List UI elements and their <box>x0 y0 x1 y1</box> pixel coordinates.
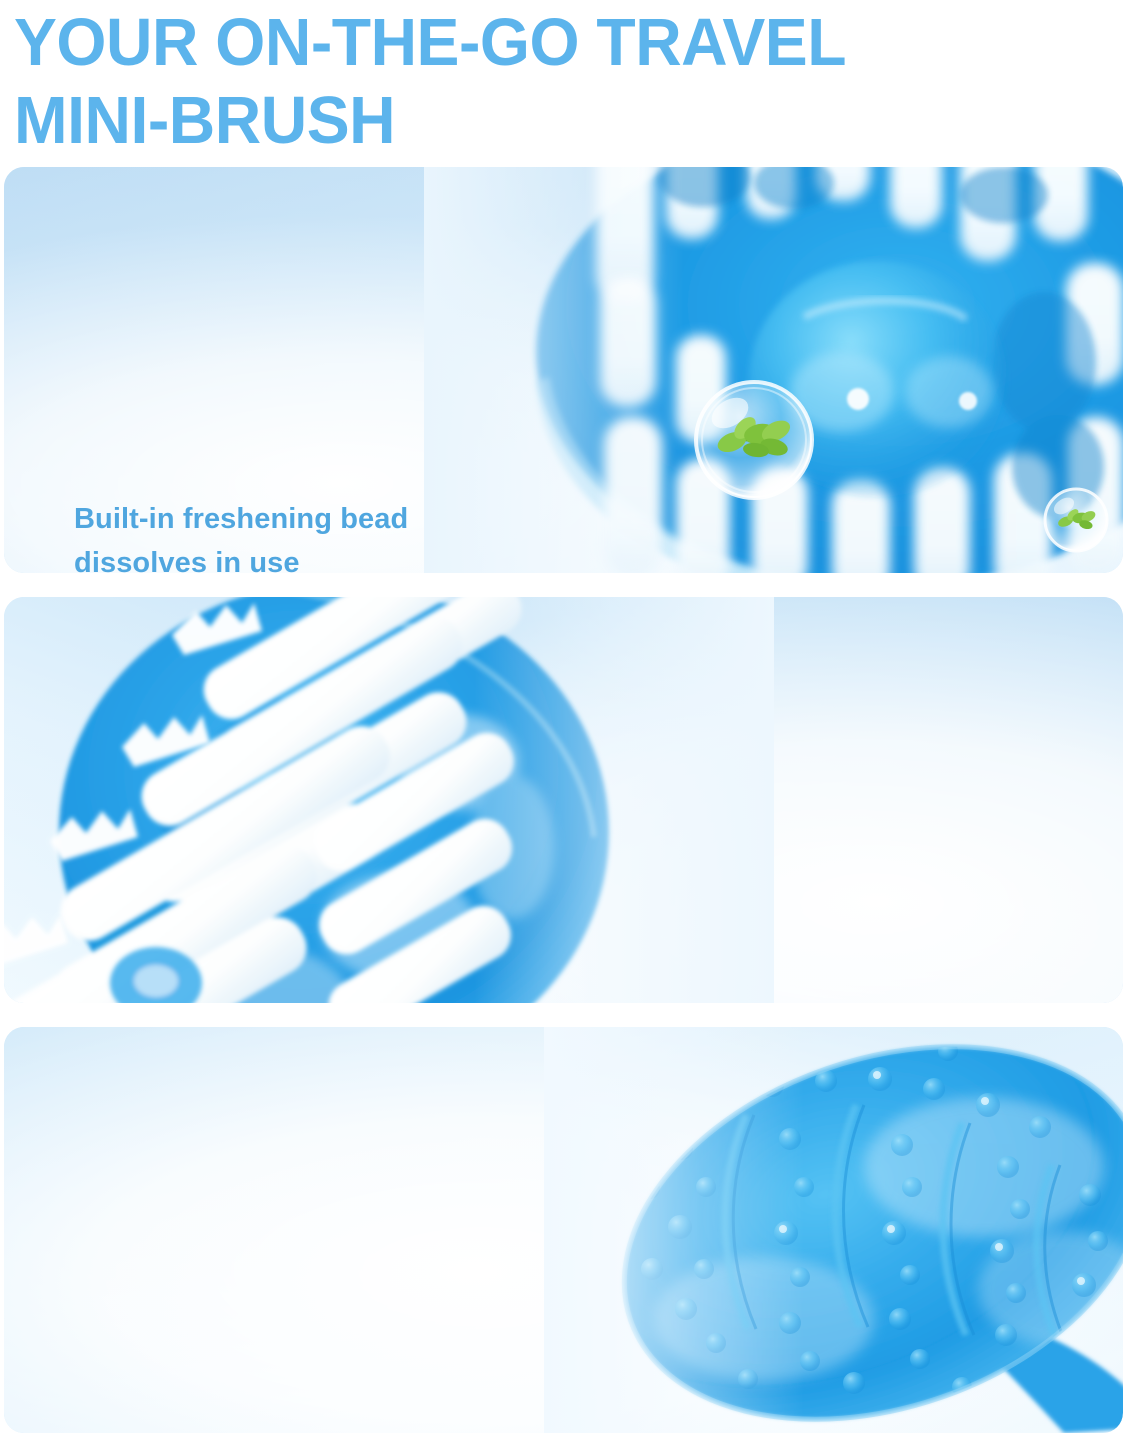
feature-panel-1: Built-in freshening bead dissolves in us… <box>4 167 1123 573</box>
feature-panel-2: Medium bristles for superior cleaning <box>4 597 1123 1003</box>
bristle-macro-photo <box>4 597 1123 1003</box>
product-feature-infographic: YOUR ON-THE-GO TRAVEL MINI-BRUSH <box>0 0 1127 1435</box>
mint-bubble-large <box>696 382 812 498</box>
feature-panel-3: Quadruple tongue & cheek cleaner,removes… <box>4 1027 1123 1433</box>
feature-text-1: Built-in freshening bead dissolves in us… <box>74 497 544 573</box>
mint-bubble-right <box>1045 489 1107 551</box>
tongue-cleaner-photo <box>4 1027 1123 1433</box>
page-title: YOUR ON-THE-GO TRAVEL MINI-BRUSH <box>14 0 1070 160</box>
